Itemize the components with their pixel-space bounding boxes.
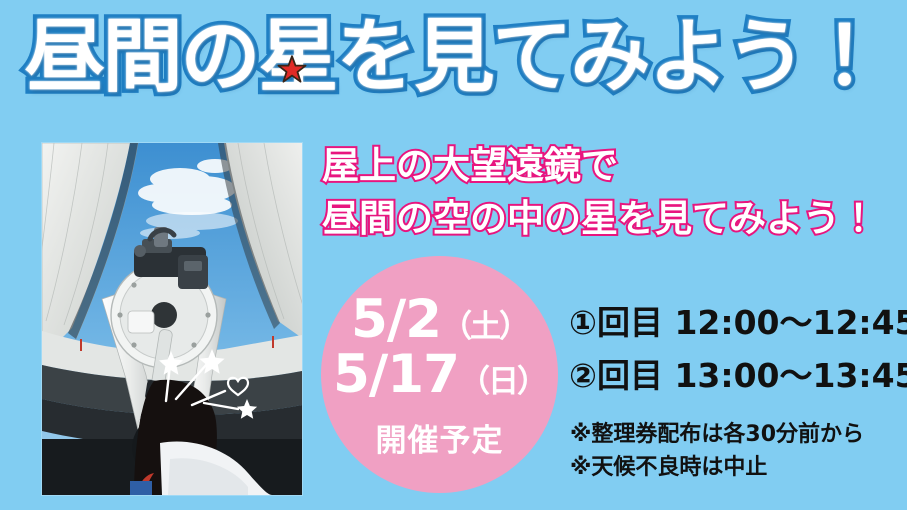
note-row: ※天候不良時は中止 <box>570 451 864 484</box>
telescope-photo <box>42 143 302 495</box>
date-value-2: 5/17 <box>333 344 459 405</box>
session-row: ②回目 13:00〜13:45 <box>569 349 907 402</box>
telescope-photo-illustration <box>42 143 302 495</box>
date-row-1: 5/2（土） <box>351 293 528 347</box>
date-value-1: 5/2 <box>351 289 441 350</box>
note-row: ※整理券配布は各30分前から <box>570 418 864 451</box>
subtitle-line-2: 昼間の空の中の星を見てみよう！ <box>322 193 897 246</box>
poster-title-text: 昼間の星を見てみよう！ <box>25 14 883 100</box>
session-row: ①回目 12:00〜12:45 <box>569 296 907 349</box>
poster-subtitle: 屋上の大望遠鏡で 昼間の空の中の星を見てみよう！ <box>322 140 897 245</box>
date-status-label: 開催予定 <box>376 415 504 460</box>
session-label-2: ②回目 <box>569 356 663 395</box>
session-list: ①回目 12:00〜12:45 ②回目 13:00〜13:45 <box>569 296 907 403</box>
date-row-2: 5/17（日） <box>333 348 546 402</box>
date-badge: 5/2（土） 5/17（日） 開催予定 <box>321 256 558 493</box>
session-time-2: 13:00〜13:45 <box>674 356 907 395</box>
date-dow-1: （土） <box>441 309 528 345</box>
date-dow-2: （日） <box>459 364 546 400</box>
subtitle-line-1: 屋上の大望遠鏡で <box>322 140 897 193</box>
poster-title: 昼間の星を見てみよう！ <box>0 14 907 100</box>
event-poster: 昼間の星を見てみよう！ <box>0 0 907 510</box>
session-time-1: 12:00〜12:45 <box>674 303 907 342</box>
session-label-1: ①回目 <box>569 303 663 342</box>
notes-list: ※整理券配布は各30分前から ※天候不良時は中止 <box>570 418 864 484</box>
red-star-icon <box>277 55 307 85</box>
